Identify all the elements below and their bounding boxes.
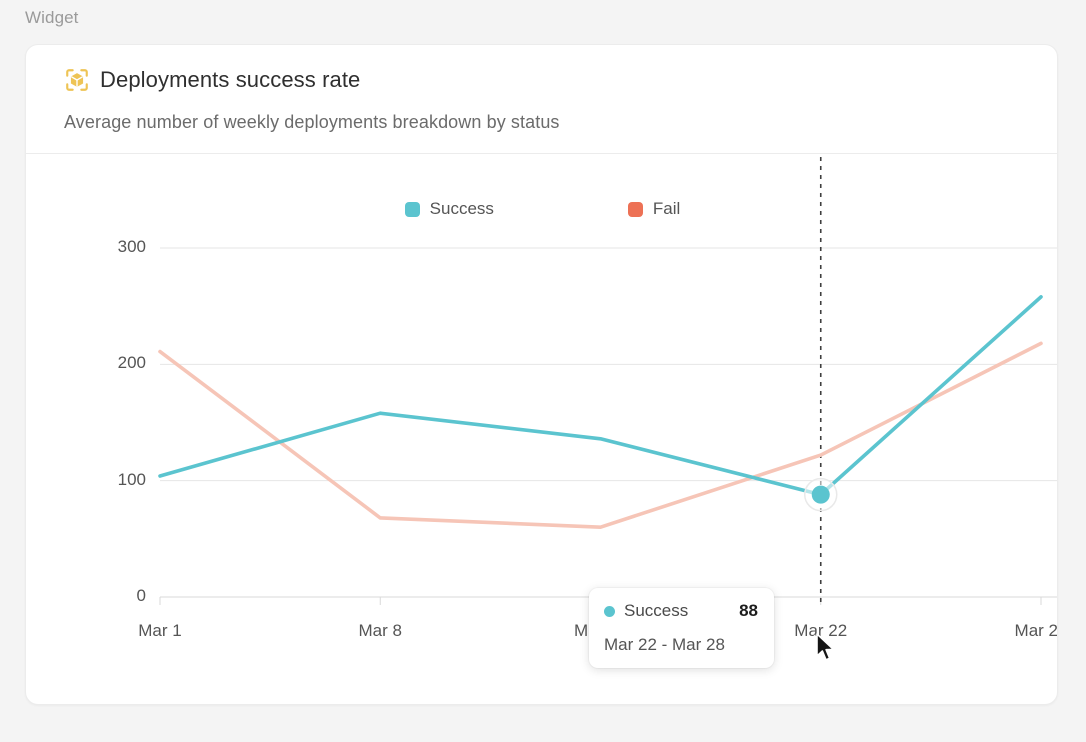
cube-scan-icon [64,67,90,93]
card-title: Deployments success rate [100,67,360,93]
screen: Widget [0,0,1086,742]
widget-label: Widget [25,8,79,28]
x-axis-tick-label: Mar 29 [981,621,1058,641]
chart-canvas[interactable] [26,154,1058,641]
card-subtitle: Average number of weekly deployments bre… [64,112,1019,133]
tooltip-date-range: Mar 22 - Mar 28 [604,635,758,655]
card-title-row: Deployments success rate [64,67,1019,93]
tooltip-series-label: Success [624,601,688,621]
y-axis-tick-label: 300 [76,237,146,257]
tooltip-value: 88 [739,601,758,621]
plot-area[interactable]: 0100200300Mar 1Mar 8Mar 15Mar 22Mar 29 [26,154,1058,641]
mouse-cursor-icon [815,633,837,663]
chart-body: Success Fail 0100200300Mar 1Mar 8Mar 15M… [26,154,1058,641]
widget-card: Deployments success rate Average number … [25,44,1058,705]
tooltip-series-dot [604,606,615,617]
y-axis-tick-label: 0 [76,586,146,606]
chart-tooltip: Success 88 Mar 22 - Mar 28 [589,588,774,668]
x-axis-tick-label: Mar 1 [100,621,220,641]
card-header: Deployments success rate Average number … [26,45,1057,133]
tooltip-series-row: Success 88 [604,601,758,621]
y-axis-tick-label: 100 [76,470,146,490]
x-axis-tick-label: Mar 8 [320,621,440,641]
y-axis-tick-label: 200 [76,353,146,373]
